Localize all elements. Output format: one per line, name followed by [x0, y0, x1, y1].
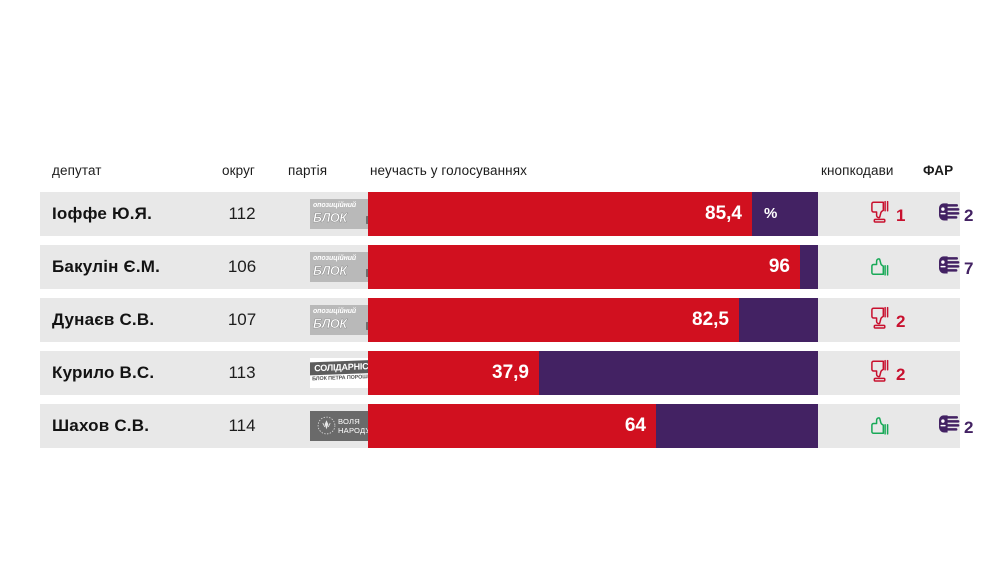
- party-logo-line2: НАРОДУ: [338, 426, 370, 435]
- far-indicator: 2: [934, 404, 973, 448]
- row-icons-cell: 2: [818, 351, 960, 395]
- deputy-name: Іоффе Ю.Я.: [52, 192, 152, 236]
- absence-bar-fill: [368, 245, 800, 289]
- absence-bar-track: 37,9: [368, 351, 818, 395]
- button-pusher-indicator: [868, 245, 894, 289]
- absence-bar-track: 96: [368, 245, 818, 289]
- column-header-button-pushers: кнопкодави: [821, 163, 894, 178]
- far-indicator: 7: [934, 245, 973, 289]
- volya-emblem-icon: [317, 416, 336, 435]
- hand-vote-icon: [934, 412, 962, 441]
- absence-bar-value: 64: [625, 404, 646, 448]
- thumbs-up-icon: [868, 252, 894, 283]
- party-logo-line1: ВОЛЯ: [338, 417, 360, 426]
- thumbs-down-icon: [868, 358, 894, 389]
- party-logo-main-text: БЛОК: [313, 264, 347, 278]
- deputy-name: Курило В.С.: [52, 351, 154, 395]
- deputy-name: Дунаєв С.В.: [52, 298, 154, 342]
- party-logo-main-text: БЛОК: [313, 317, 347, 331]
- row-icons-cell: 2: [818, 404, 960, 448]
- infographic-root: депутат округ партія неучасть у голосува…: [0, 0, 1000, 562]
- column-header-district: округ: [222, 163, 255, 178]
- column-header-party: партія: [288, 163, 327, 178]
- deputy-name: Шахов С.В.: [52, 404, 149, 448]
- table-row: Бакулін Є.М.106опозиційнийБЛОК967: [40, 245, 960, 289]
- absence-bar-fill: [368, 192, 752, 236]
- absence-bar-value: 96: [769, 245, 790, 289]
- hand-vote-icon: [934, 200, 962, 229]
- thumbs-down-icon: [868, 199, 894, 230]
- column-header-far: ФАР: [923, 163, 953, 178]
- row-icons-cell: 7: [818, 245, 960, 289]
- table-header: депутат округ партія неучасть у голосува…: [40, 160, 960, 184]
- deputy-rows: Іоффе Ю.Я.112опозиційнийБЛОК85,4%12Бакул…: [40, 192, 960, 457]
- table-row: Дунаєв С.В.107опозиційнийБЛОК82,52: [40, 298, 960, 342]
- district-number: 112: [216, 192, 268, 236]
- button-pusher-indicator: 2: [868, 351, 905, 395]
- column-header-deputy: депутат: [52, 163, 102, 178]
- far-indicator: 2: [934, 192, 973, 236]
- absence-bar-fill: [368, 298, 739, 342]
- district-number: 114: [216, 404, 268, 448]
- far-count: 2: [964, 207, 973, 224]
- absence-bar-fill: [368, 404, 656, 448]
- button-pusher-indicator: 1: [868, 192, 905, 236]
- row-icons-cell: 12: [818, 192, 960, 236]
- table-row: Курило В.С.113СОЛІДАРНІСТЬБЛОК ПЕТРА ПОР…: [40, 351, 960, 395]
- absence-bar-track: 82,5: [368, 298, 818, 342]
- table-row: Шахов С.В.114ВОЛЯНАРОДУ642: [40, 404, 960, 448]
- column-header-absence: неучасть у голосуваннях: [370, 163, 527, 178]
- button-pusher-indicator: [868, 404, 894, 448]
- party-logo-main-text: БЛОК: [313, 211, 347, 225]
- table-row: Іоффе Ю.Я.112опозиційнийБЛОК85,4%12: [40, 192, 960, 236]
- absence-bar-track: 85,4%: [368, 192, 818, 236]
- row-icons-cell: 2: [818, 298, 960, 342]
- hand-vote-icon: [934, 253, 962, 282]
- button-pusher-count: 2: [896, 313, 905, 330]
- district-number: 113: [216, 351, 268, 395]
- party-logo-emblem: [317, 416, 336, 435]
- far-count: 7: [964, 260, 973, 277]
- thumbs-down-icon: [868, 305, 894, 336]
- thumbs-up-icon: [868, 411, 894, 442]
- far-count: 2: [964, 419, 973, 436]
- absence-bar-value: 82,5: [692, 298, 729, 342]
- button-pusher-count: 2: [896, 366, 905, 383]
- button-pusher-indicator: 2: [868, 298, 905, 342]
- absence-bar-track: 64: [368, 404, 818, 448]
- button-pusher-count: 1: [896, 207, 905, 224]
- district-number: 106: [216, 245, 268, 289]
- absence-bar-value: 37,9: [492, 351, 529, 395]
- deputy-name: Бакулін Є.М.: [52, 245, 160, 289]
- district-number: 107: [216, 298, 268, 342]
- absence-bar-value: 85,4: [705, 192, 742, 236]
- percent-symbol: %: [764, 192, 777, 236]
